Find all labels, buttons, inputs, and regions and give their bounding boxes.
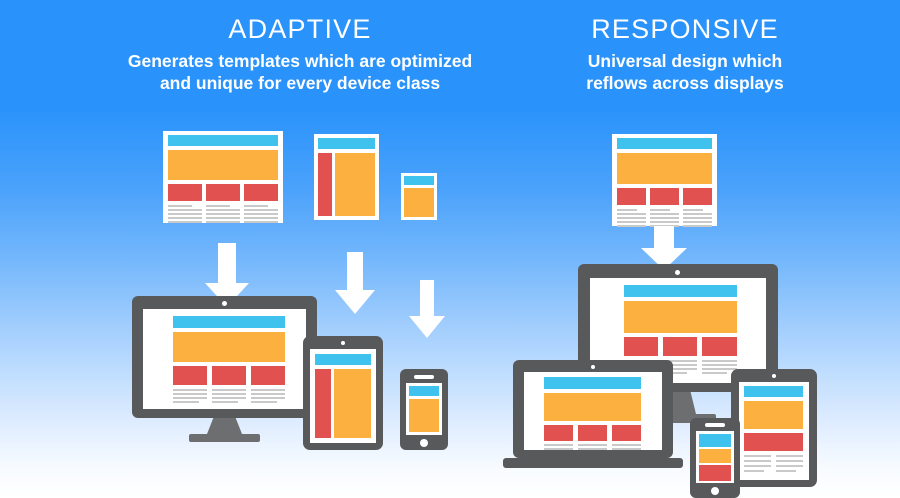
screen-text-col-2 <box>776 455 803 472</box>
screen-hero-block <box>624 301 737 333</box>
template-hero-block <box>617 153 712 184</box>
screen-header-bar <box>699 434 731 447</box>
responsive-title: RESPONSIVE <box>500 16 870 43</box>
tablet-screen <box>739 382 809 480</box>
screen-card-3 <box>702 337 737 356</box>
laptop-base <box>503 458 683 468</box>
template-text-col-3 <box>244 205 278 223</box>
template-text-col-1 <box>617 209 646 227</box>
screen-header-bar <box>173 316 285 328</box>
tablet-screen <box>310 349 376 443</box>
screen-text-col-2 <box>578 444 607 450</box>
screen-card-3 <box>612 425 641 441</box>
adaptive-phone-device <box>400 369 448 450</box>
screen-hero-block <box>173 332 285 362</box>
screen-card-1 <box>544 425 573 441</box>
screen-card-2 <box>212 366 246 385</box>
monitor-foot <box>189 434 260 442</box>
template-text-col-3 <box>683 209 712 227</box>
home-button-icon <box>420 439 428 447</box>
screen-body-block <box>409 399 439 432</box>
template-text-col-2 <box>650 209 679 227</box>
adaptive-tablet-template <box>314 134 379 220</box>
template-text-col-2 <box>206 205 240 223</box>
screen-card-block <box>699 465 731 481</box>
screen-text-col-1 <box>544 444 573 450</box>
screen-text-col-3 <box>251 389 285 403</box>
adaptive-subtitle-line2: and unique for every device class <box>60 73 540 95</box>
screen-text-col-1 <box>744 455 771 472</box>
responsive-tablet-device <box>731 369 817 487</box>
arrow-to-tablet-icon <box>335 252 375 314</box>
template-card-2 <box>650 188 679 205</box>
screen-hero-block <box>699 449 731 463</box>
camera-dot-icon <box>222 301 227 306</box>
camera-dot-icon <box>341 341 345 345</box>
screen-card-wide <box>744 433 803 451</box>
responsive-laptop-device <box>503 360 683 470</box>
responsive-phone-device <box>690 418 740 498</box>
camera-dot-icon <box>675 270 680 275</box>
phone-screen <box>696 431 734 483</box>
screen-text-col-3 <box>612 444 641 450</box>
template-card-2 <box>206 184 240 201</box>
template-header-bar <box>318 138 375 149</box>
adaptive-title: ADAPTIVE <box>60 16 540 43</box>
screen-text-col-2 <box>212 389 246 403</box>
screen-hero-block <box>544 393 641 421</box>
template-header-bar <box>168 135 278 146</box>
adaptive-heading-block: ADAPTIVE Generates templates which are o… <box>60 16 540 95</box>
screen-header-bar <box>409 386 439 396</box>
template-card-1 <box>168 184 202 201</box>
template-header-bar <box>617 138 712 149</box>
phone-screen <box>406 383 442 435</box>
template-header-bar <box>404 176 434 185</box>
adaptive-subtitle-line1: Generates templates which are optimized <box>60 51 540 73</box>
camera-dot-icon <box>772 374 776 378</box>
arrow-to-phone-icon <box>409 280 445 338</box>
template-body-block <box>404 188 434 217</box>
adaptive-desktop-template <box>163 131 283 223</box>
screen-card-2 <box>578 425 607 441</box>
template-sidebar <box>318 153 332 216</box>
adaptive-desktop-monitor <box>132 296 317 442</box>
infographic-canvas: ADAPTIVE Generates templates which are o… <box>0 0 900 498</box>
responsive-subtitle-line1: Universal design which <box>500 51 870 73</box>
laptop-screen <box>524 372 662 450</box>
screen-header-bar <box>544 377 641 389</box>
screen-sidebar <box>315 369 331 438</box>
screen-card-2 <box>663 337 697 356</box>
screen-card-3 <box>251 366 285 385</box>
template-main-block <box>335 153 375 216</box>
monitor-screen <box>143 309 306 409</box>
screen-main-block <box>334 369 371 438</box>
home-button-icon <box>711 487 719 495</box>
screen-card-1 <box>624 337 658 356</box>
template-text-col-1 <box>168 205 202 223</box>
screen-text-col-1 <box>173 389 207 403</box>
responsive-universal-template <box>612 134 717 226</box>
responsive-heading-block: RESPONSIVE Universal design which reflow… <box>500 16 870 95</box>
screen-hero-block <box>744 401 803 429</box>
screen-header-bar <box>744 386 803 397</box>
adaptive-phone-template <box>401 173 437 220</box>
camera-dot-icon <box>591 365 595 369</box>
template-card-3 <box>244 184 278 201</box>
screen-header-bar <box>315 354 371 365</box>
speaker-slot-icon <box>414 375 434 379</box>
template-hero-block <box>168 150 278 180</box>
monitor-neck <box>207 418 242 434</box>
screen-card-1 <box>173 366 207 385</box>
responsive-subtitle-line2: reflows across displays <box>500 73 870 95</box>
template-card-1 <box>617 188 646 205</box>
speaker-slot-icon <box>705 423 725 427</box>
adaptive-tablet-device <box>303 336 383 450</box>
template-card-3 <box>683 188 712 205</box>
screen-header-bar <box>624 285 737 297</box>
